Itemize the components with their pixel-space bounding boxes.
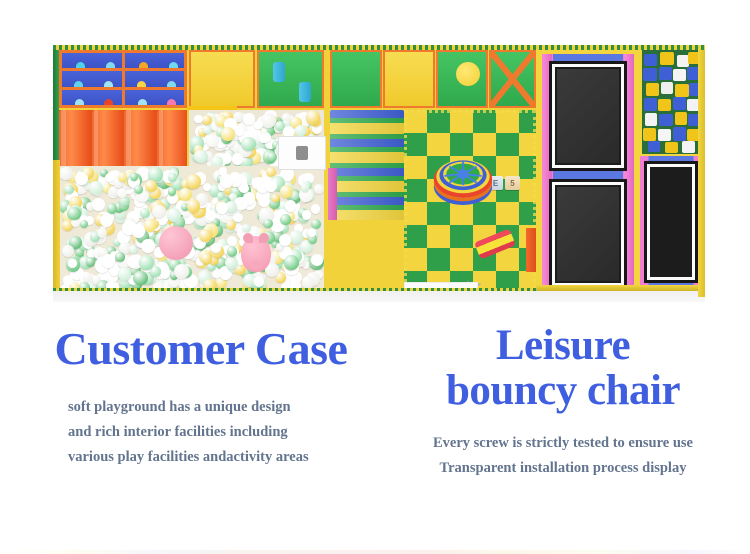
playground-photo-canvas: E 5	[53, 45, 705, 302]
play-ball	[271, 194, 279, 202]
right-text-column: Leisure bouncy chair Every screw is stri…	[383, 323, 743, 481]
play-ball	[194, 115, 203, 124]
photo-bottom-frame	[536, 285, 705, 291]
trampoline-tower-zone	[536, 48, 640, 296]
play-ball	[186, 174, 201, 189]
play-ball	[67, 207, 80, 220]
yellow-guard-rail	[187, 106, 237, 110]
play-ball	[221, 127, 235, 141]
play-ball	[62, 245, 74, 257]
orange-post	[526, 228, 536, 272]
hero-photo: E 5	[53, 45, 705, 302]
play-ball	[118, 267, 131, 280]
right-body-line: Every screw is strictly tested to ensure…	[383, 431, 743, 456]
play-ball	[133, 271, 147, 285]
alphabet-block: 5	[505, 176, 520, 190]
play-ball	[266, 167, 276, 177]
right-headline-line1: Leisure	[496, 322, 630, 369]
trampoline-mat	[552, 64, 624, 168]
right-headline: Leisure bouncy chair	[383, 323, 743, 413]
play-ball	[152, 205, 165, 218]
trampoline-mat	[647, 164, 694, 280]
play-ball	[261, 113, 275, 127]
play-ball	[280, 185, 293, 198]
play-ball	[225, 257, 238, 270]
play-ball	[203, 126, 212, 135]
play-ball	[107, 203, 117, 213]
photo-right-frame	[698, 45, 705, 297]
pink-column	[624, 54, 634, 290]
green-wall-panel	[330, 50, 382, 108]
ball-pit-main	[59, 166, 324, 294]
climbing-panel-grid	[59, 50, 187, 108]
cross-decor-icon	[491, 52, 534, 106]
play-ball	[206, 210, 216, 220]
play-ball	[194, 150, 208, 164]
play-ball	[279, 234, 291, 246]
play-ball	[102, 254, 115, 267]
play-ball	[227, 246, 238, 257]
left-body-line: soft playground has a unique design	[68, 395, 386, 420]
play-ball	[254, 276, 265, 287]
play-ball	[68, 259, 77, 268]
sun-icon	[456, 62, 480, 86]
left-body-line: various play facilities andactivity area…	[68, 445, 386, 470]
toy-car	[474, 229, 516, 260]
play-ball	[243, 113, 255, 125]
climbing-panel	[125, 71, 185, 86]
play-ball	[174, 264, 189, 279]
right-headline-line2: bouncy chair	[446, 367, 680, 414]
play-ball	[115, 252, 125, 262]
play-ball	[140, 208, 150, 218]
mat-edge-top	[53, 45, 705, 50]
play-ball	[308, 229, 316, 237]
play-ball	[239, 184, 249, 194]
play-ball	[259, 134, 268, 143]
toy-car-body	[474, 229, 516, 260]
play-ball	[289, 230, 303, 244]
trampoline-frame	[542, 54, 634, 290]
play-ball	[314, 184, 323, 193]
ball-pit-left-frame	[53, 160, 60, 294]
play-ball	[141, 239, 155, 253]
play-ball	[301, 183, 310, 192]
foam-floor-activity-zone: E 5	[330, 48, 536, 291]
page-bottom-gradient-rule	[0, 550, 750, 554]
checkerboard-foam-floor: E 5	[404, 110, 536, 294]
pink-column	[542, 54, 552, 290]
climbing-panel	[125, 53, 185, 68]
play-ball	[92, 198, 105, 211]
striped-slide	[330, 110, 404, 220]
play-ball	[168, 173, 177, 182]
yellow-wall-panel	[189, 50, 255, 108]
play-ball	[311, 254, 323, 266]
play-ball	[86, 257, 96, 267]
large-pink-ball	[159, 226, 193, 260]
play-ball	[83, 273, 92, 282]
play-ball	[80, 220, 88, 228]
play-ball	[311, 204, 320, 213]
play-ball	[187, 199, 201, 213]
showroom-floor-strip	[53, 291, 705, 302]
info-board	[278, 136, 326, 170]
play-ball	[203, 183, 211, 191]
play-ball	[118, 172, 128, 182]
foam-cube-pit	[642, 50, 700, 154]
pink-pig-figure	[241, 236, 271, 272]
pink-post	[328, 168, 337, 220]
play-ball	[285, 200, 297, 212]
play-ball	[306, 110, 321, 125]
play-ball	[168, 187, 176, 195]
play-ball	[130, 173, 138, 181]
climbing-panel	[62, 53, 122, 68]
play-ball	[302, 210, 312, 220]
carousel-spinner-icon	[432, 148, 494, 210]
green-wall-panel	[257, 50, 324, 108]
play-ball	[139, 255, 154, 270]
play-ball	[227, 236, 237, 246]
board-icon	[296, 146, 308, 160]
text-columns: Customer Case soft playground has a uniq…	[0, 305, 750, 515]
left-headline: Customer Case	[16, 325, 386, 373]
right-body-line: Transparent installation process display	[383, 456, 743, 481]
play-ball	[267, 152, 277, 162]
play-ball	[160, 269, 170, 279]
trampoline-mat	[552, 182, 624, 286]
trampoline-surface	[557, 187, 619, 281]
foam-cube-pit-zone	[640, 48, 702, 296]
climbing-panel	[62, 90, 122, 105]
play-ball	[295, 125, 306, 136]
play-ball	[89, 181, 103, 195]
play-ball	[132, 224, 145, 237]
x-cross-wall-panel	[489, 50, 536, 108]
play-ball	[254, 121, 263, 130]
green-wall-panel-with-sun	[436, 50, 488, 108]
play-ball	[284, 255, 299, 270]
left-body-text: soft playground has a unique design and …	[16, 395, 386, 470]
trampoline-surface	[557, 69, 619, 163]
play-ball	[212, 270, 220, 278]
left-body-line: and rich interior facilities including	[68, 420, 386, 445]
climbing-panel	[125, 90, 185, 105]
climbing-wall-and-slide-zone	[53, 48, 330, 291]
play-ball	[59, 167, 72, 180]
yellow-wall-panel	[383, 50, 435, 108]
climbing-panel	[62, 71, 122, 86]
trampoline-frame	[640, 156, 702, 296]
right-body-text: Every screw is strictly tested to ensure…	[383, 431, 743, 481]
left-text-column: Customer Case soft playground has a uniq…	[16, 325, 386, 470]
